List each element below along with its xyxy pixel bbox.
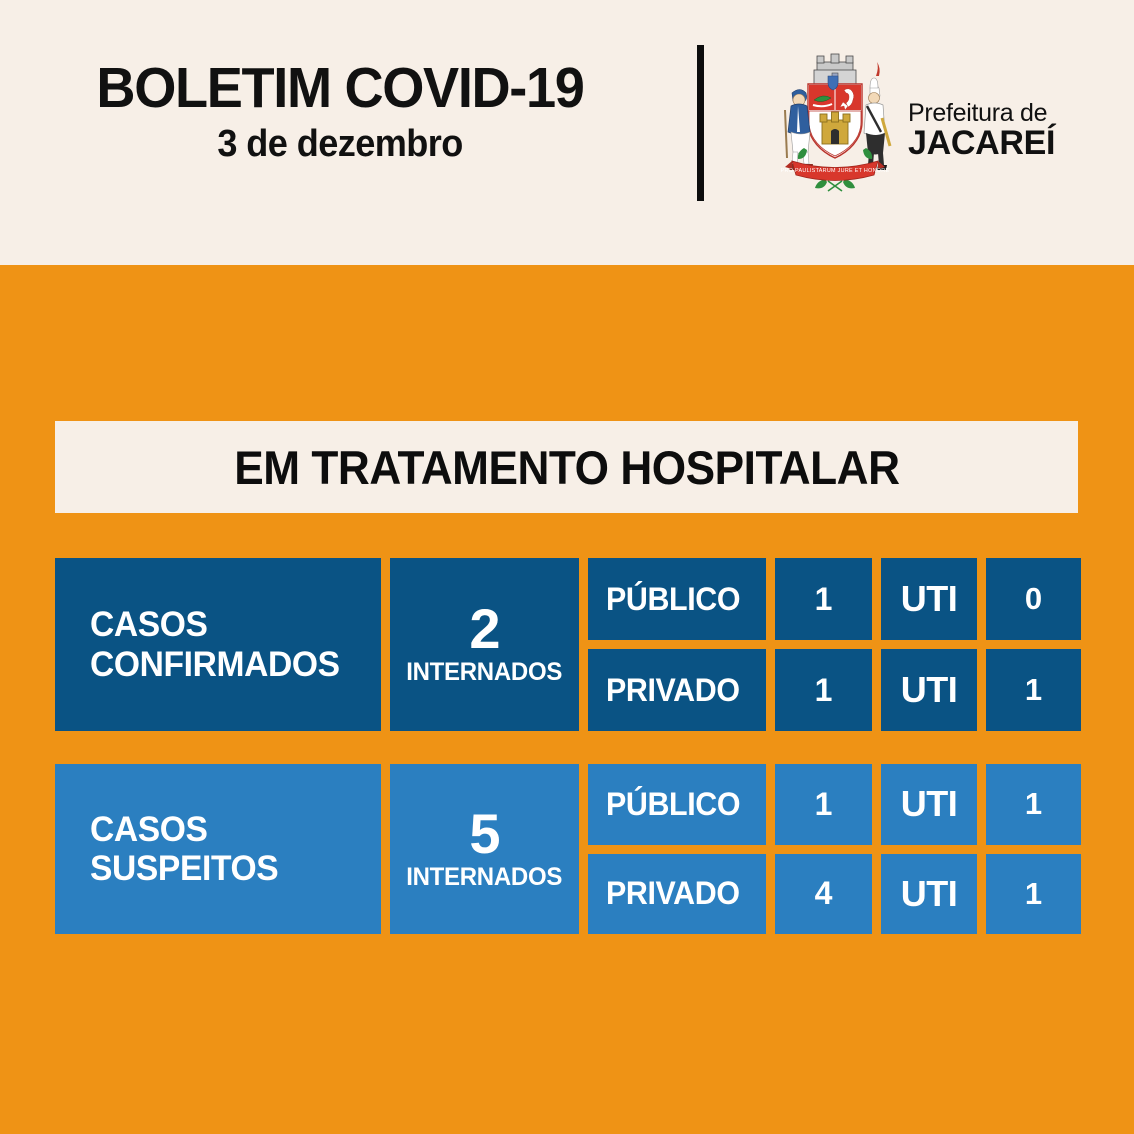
brand-prefeitura-label: Prefeitura de (908, 100, 1108, 126)
suspected-detail-block: PÚBLICO 1 UTI 1 PRIVADO 4 (588, 764, 1081, 934)
section-banner-title: EM TRATAMENTO HOSPITALAR (234, 440, 899, 495)
crest-motto-text: PRO PAULISTARUM JURE ET HONORE (781, 168, 890, 174)
confirmed-label-line1: CASOS (90, 605, 340, 644)
confirmed-total-cell: 2 INTERNADOS (390, 558, 579, 731)
covid-bulletin-infographic: BOLETIM COVID-19 3 de dezembro (0, 0, 1134, 1134)
confirmed-detail-block: PÚBLICO 1 UTI 0 PRIVADO 1 (588, 558, 1081, 731)
confirmed-privado-uti-count-cell: 1 (986, 649, 1081, 731)
confirmed-publico-count-value: 1 (815, 581, 833, 618)
confirmed-total-caption: INTERNADOS (407, 659, 563, 687)
suspected-publico-sector-label: PÚBLICO (606, 786, 740, 823)
suspected-publico-count-value: 1 (815, 786, 833, 823)
confirmed-privado-count-value: 1 (815, 672, 833, 709)
confirmed-privado-count-cell: 1 (775, 649, 872, 731)
confirmed-publico-row: PÚBLICO 1 UTI 0 (588, 558, 1081, 640)
suspected-publico-count-cell: 1 (775, 764, 872, 845)
suspected-privado-count-cell: 4 (775, 854, 872, 935)
confirmed-publico-sector-cell: PÚBLICO (588, 558, 766, 640)
brand-city-name: JACAREÍ (908, 126, 1108, 162)
confirmed-label-line2: CONFIRMADOS (90, 645, 340, 684)
confirmed-privado-sector-cell: PRIVADO (588, 649, 766, 731)
confirmed-privado-row: PRIVADO 1 UTI 1 (588, 649, 1081, 731)
confirmed-publico-sector-label: PÚBLICO (606, 581, 740, 618)
confirmed-publico-count-cell: 1 (775, 558, 872, 640)
suspected-publico-row: PÚBLICO 1 UTI 1 (588, 764, 1081, 845)
confirmed-publico-uti-label: UTI (901, 578, 958, 620)
confirmed-publico-uti-label-cell: UTI (881, 558, 977, 640)
suspected-publico-uti-label: UTI (901, 783, 958, 825)
header-bar: BOLETIM COVID-19 3 de dezembro (0, 0, 1134, 265)
suspected-cases-label-cell: CASOS SUSPEITOS (55, 764, 381, 934)
confirmed-total-number: 2 (469, 602, 499, 655)
confirmed-publico-uti-count-value: 0 (1025, 581, 1042, 617)
section-banner: EM TRATAMENTO HOSPITALAR (55, 421, 1078, 513)
jacarei-coat-of-arms-icon: PRO PAULISTARUM JURE ET HONORE (770, 48, 900, 203)
suspected-privado-uti-count-value: 1 (1025, 876, 1042, 912)
confirmed-privado-sector-label: PRIVADO (606, 672, 740, 709)
suspected-total-number: 5 (469, 807, 499, 860)
confirmed-publico-uti-count-cell: 0 (986, 558, 1081, 640)
confirmed-privado-uti-label-cell: UTI (881, 649, 977, 731)
page-title: BOLETIM COVID-19 (55, 60, 625, 117)
confirmed-privado-uti-count-value: 1 (1025, 672, 1042, 708)
suspected-label-line1: CASOS (90, 810, 278, 849)
suspected-publico-sector-cell: PÚBLICO (588, 764, 766, 845)
header-divider (697, 45, 704, 201)
suspected-privado-row: PRIVADO 4 UTI 1 (588, 854, 1081, 935)
header-title-block: BOLETIM COVID-19 3 de dezembro (40, 60, 640, 167)
brand-block: PRO PAULISTARUM JURE ET HONORE Prefeitur… (770, 48, 1100, 208)
bulletin-date: 3 de dezembro (55, 123, 625, 167)
confirmed-privado-uti-label: UTI (901, 669, 958, 711)
suspected-privado-sector-label: PRIVADO (606, 875, 740, 912)
suspected-privado-count-value: 4 (815, 875, 833, 912)
suspected-total-cell: 5 INTERNADOS (390, 764, 579, 934)
suspected-publico-uti-label-cell: UTI (881, 764, 977, 845)
confirmed-cases-label-cell: CASOS CONFIRMADOS (55, 558, 381, 731)
suspected-cases-group: CASOS SUSPEITOS 5 INTERNADOS PÚBLICO 1 U… (55, 764, 1078, 934)
suspected-privado-uti-label: UTI (901, 873, 958, 915)
suspected-total-caption: INTERNADOS (407, 864, 563, 892)
suspected-publico-uti-count-value: 1 (1025, 786, 1042, 822)
suspected-privado-sector-cell: PRIVADO (588, 854, 766, 935)
suspected-publico-uti-count-cell: 1 (986, 764, 1081, 845)
confirmed-cases-group: CASOS CONFIRMADOS 2 INTERNADOS PÚBLICO 1… (55, 558, 1078, 731)
brand-text-block: Prefeitura de JACAREÍ (908, 100, 1108, 162)
suspected-privado-uti-label-cell: UTI (881, 854, 977, 935)
suspected-privado-uti-count-cell: 1 (986, 854, 1081, 935)
suspected-label-line2: SUSPEITOS (90, 849, 278, 888)
